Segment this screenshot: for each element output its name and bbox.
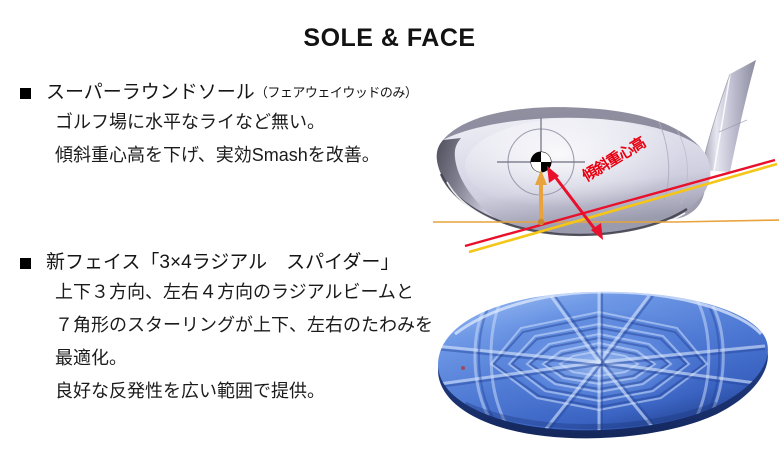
- section-face-line-1: 上下３方向、左右４方向のラジアルビームと: [0, 276, 430, 309]
- section-face-line-2: ７角形のスターリングが上下、左右のたわみを: [0, 309, 430, 342]
- section-face-line-3: 最適化。: [0, 342, 430, 375]
- section-sole: スーパーラウンドソール（フェアウェイウッドのみ） ゴルフ場に水平なライなど無い。…: [0, 80, 430, 172]
- toe-marker-dot: [461, 366, 465, 370]
- club-face-figure: [425, 272, 779, 452]
- square-bullet-icon: [20, 258, 31, 269]
- section-face-heading: 新フェイス「3×4ラジアル スパイダー」: [0, 250, 430, 276]
- page-title: SOLE & FACE: [0, 24, 779, 53]
- slide-root: SOLE & FACE スーパーラウンドソール（フェアウェイウッドのみ） ゴルフ…: [0, 0, 779, 460]
- section-face-heading-main: 新フェイス「3×4ラジアル スパイダー」: [46, 252, 399, 273]
- section-sole-heading-main: スーパーラウンドソール: [46, 82, 255, 103]
- section-sole-line-2: 傾斜重心高を下げ、実効Smashを改善。: [0, 139, 430, 172]
- square-bullet-icon: [20, 88, 31, 99]
- hosel-shaft: [701, 60, 756, 172]
- section-face-line-4: 良好な反発性を広い範囲で提供。: [0, 375, 430, 408]
- section-sole-heading: スーパーラウンドソール（フェアウェイウッドのみ）: [0, 80, 430, 106]
- section-sole-line-1: ゴルフ場に水平なライなど無い。: [0, 106, 430, 139]
- section-face: 新フェイス「3×4ラジアル スパイダー」 上下３方向、左右４方向のラジアルビーム…: [0, 250, 430, 408]
- section-sole-heading-note: （フェアウェイウッドのみ）: [255, 85, 418, 100]
